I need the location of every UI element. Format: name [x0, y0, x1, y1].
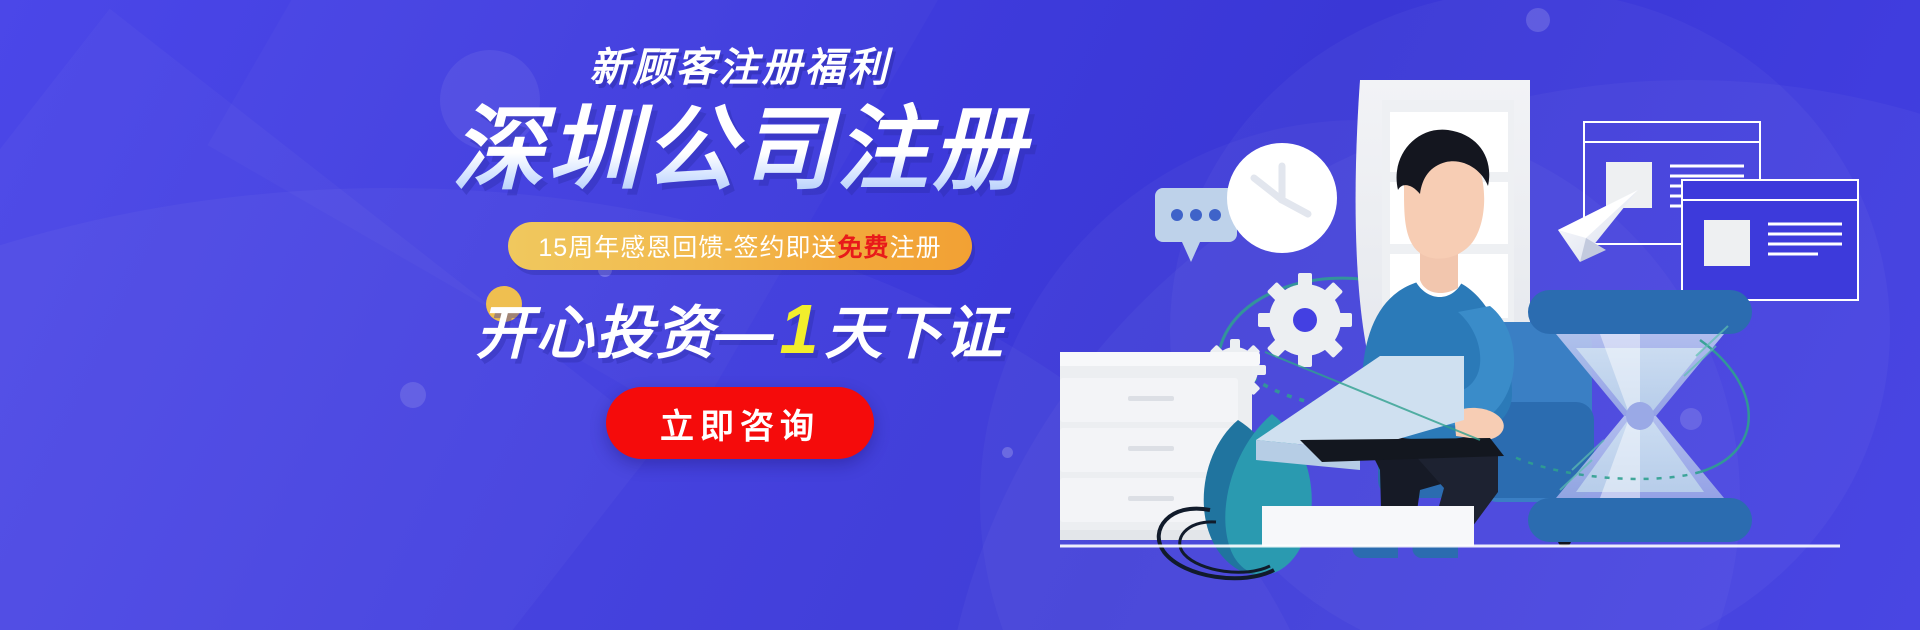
hero-illustration: [1060, 0, 1920, 630]
clock-icon: [1227, 143, 1337, 253]
tagline-before: 开心投资—: [476, 301, 776, 366]
promo-badge: 15周年感恩回馈-签约即送免费注册: [508, 222, 971, 270]
banner-copy-block: 新顾客注册福利 深圳公司注册 15周年感恩回馈-签约即送免费注册 开心投资—1天…: [380, 48, 1100, 459]
promo-banner: 新顾客注册福利 深圳公司注册 15周年感恩回馈-签约即送免费注册 开心投资—1天…: [0, 0, 1920, 630]
tagline-number: 1: [776, 290, 825, 368]
promo-badge-suffix: 注册: [890, 228, 942, 264]
promo-badge-prefix: 15周年感恩回馈-签约即送: [538, 228, 837, 264]
document-card-icon-2: [1682, 180, 1858, 300]
banner-eyebrow: 新顾客注册福利: [380, 48, 1100, 88]
banner-headline: 深圳公司注册: [380, 102, 1100, 200]
tagline-after: 天下证: [824, 301, 1004, 366]
consult-now-button[interactable]: 立即咨询: [606, 387, 874, 459]
banner-tagline: 开心投资—1天下证: [380, 292, 1100, 368]
promo-badge-highlight: 免费: [838, 228, 890, 264]
